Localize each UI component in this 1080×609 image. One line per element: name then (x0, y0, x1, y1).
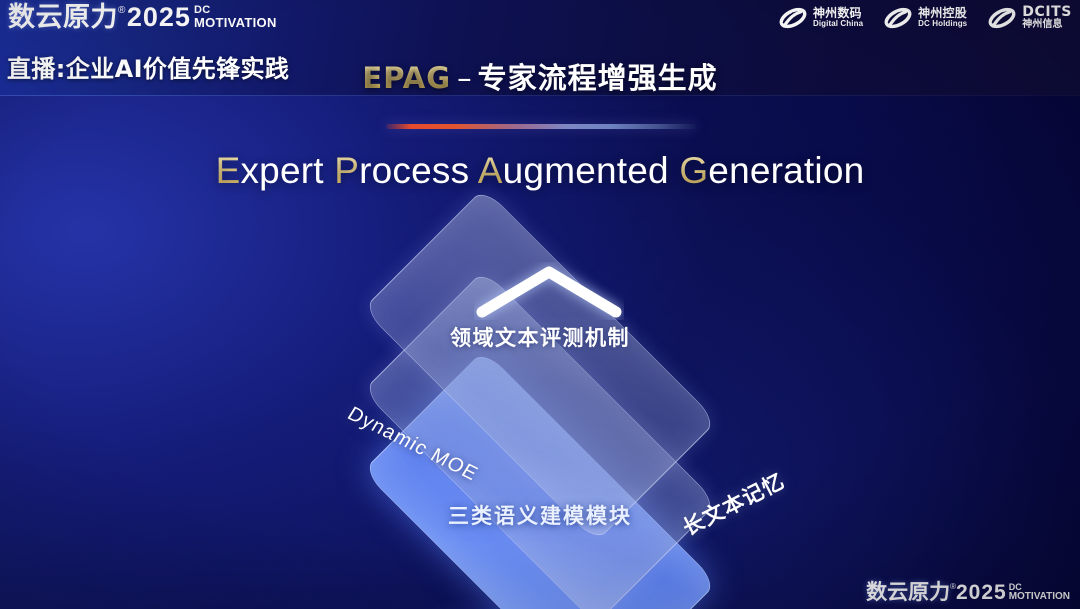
expansion-word-augmented: Augmented (478, 150, 669, 191)
title-dash: – (457, 61, 472, 95)
title-divider (386, 124, 696, 129)
expansion-word-generation: Generation (679, 150, 864, 191)
expansion-rest-process: rocess (359, 150, 469, 191)
corp-logo-text: DCITS 神州信息 (1022, 5, 1072, 31)
watermark-year: 2025 (956, 582, 1007, 603)
corp-logo-digital-china: 神州数码 Digital China (778, 5, 863, 31)
footer-watermark-logo: 数云原力 ® 2025 DC MOTIVATION (866, 582, 1070, 603)
expansion-cap-g: G (679, 150, 708, 191)
swoosh-icon (778, 5, 808, 31)
corp-logo-dc-holdings: 神州控股 DC Holdings (883, 5, 967, 31)
event-brand-logo: 数云原力 ® 2025 DC MOTIVATION (8, 4, 277, 31)
acronym-expansion: Expert Process Augmented Generation (0, 150, 1080, 192)
corp-logo-text: 神州控股 DC Holdings (918, 7, 967, 29)
corp-name-en: DCITS (1022, 5, 1072, 20)
corp-name-en: DC Holdings (918, 20, 967, 29)
chevron-up-icon (474, 262, 624, 320)
brand-year: 2025 (127, 4, 191, 31)
swoosh-icon (883, 5, 913, 31)
corporate-logo-group: 神州数码 Digital China 神州控股 DC Holdings (778, 5, 1072, 31)
layer-top-plate (363, 188, 718, 543)
swoosh-icon (987, 5, 1017, 31)
layer-top-label: 领域文本评测机制 (282, 322, 798, 352)
expansion-word-process: Process (334, 150, 469, 191)
expansion-rest-expert: xpert (240, 150, 323, 191)
slide-canvas: 数云原力 ® 2025 DC MOTIVATION 直播:企业AI价值先锋实践 … (0, 0, 1080, 609)
layer-bottom-label: 三类语义建模模块 (282, 500, 798, 530)
corp-name-cn: 神州信息 (1022, 20, 1072, 31)
watermark-motivation-label: MOTIVATION (1009, 592, 1070, 602)
brand-name-cn: 数云原力 (8, 4, 118, 31)
brand-motivation-label: MOTIVATION (194, 16, 277, 29)
corp-logo-text: 神州数码 Digital China (813, 7, 863, 29)
watermark-name-cn: 数云原力 (866, 582, 950, 603)
corp-name-en: Digital China (813, 20, 863, 29)
watermark-dc-motivation: DC MOTIVATION (1009, 583, 1070, 602)
title-chinese: 专家流程增强生成 (478, 61, 718, 95)
expansion-rest-generation: eneration (708, 150, 864, 191)
expansion-cap-p: P (334, 150, 359, 191)
layered-architecture-diagram: 领域文本评测机制 Dynamic MOE 长文本记忆 三类语义建模模块 (282, 222, 798, 572)
expansion-cap-e: E (216, 150, 241, 191)
slide-title: EPAG–专家流程增强生成 (0, 55, 1080, 97)
brand-registered-mark: ® (118, 6, 126, 16)
diagram-layer-top (375, 200, 705, 530)
expansion-rest-augmented: ugmented (503, 150, 669, 191)
expansion-word-expert: Expert (216, 150, 324, 191)
corp-logo-dcits: DCITS 神州信息 (987, 5, 1072, 31)
brand-dc-motivation: DC MOTIVATION (194, 5, 277, 29)
title-acronym: EPAG (362, 61, 451, 95)
expansion-cap-a: A (478, 150, 503, 191)
